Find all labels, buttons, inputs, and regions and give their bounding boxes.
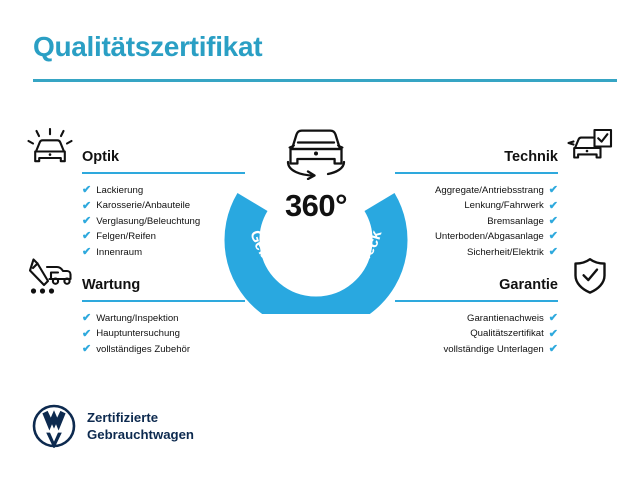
panel-garantie-list: ✔Garantienachweis ✔Qualitätszertifikat ✔… bbox=[395, 311, 610, 357]
list-item: ✔Qualitätszertifikat bbox=[395, 326, 610, 341]
gebrauchtwagen-check-badge: Gebrauchtwagen-Check 360° bbox=[223, 122, 409, 314]
panel-wartung-header: Wartung bbox=[30, 256, 245, 302]
list-item-label: vollständiges Zubehör bbox=[96, 342, 190, 357]
panel-optik-title: Optik bbox=[82, 149, 119, 165]
list-item: ✔vollständige Unterlagen bbox=[395, 342, 610, 357]
list-item: ✔Unterboden/Abgasanlage bbox=[395, 229, 610, 244]
check-icon: ✔ bbox=[549, 231, 558, 242]
panel-optik-header: Optik bbox=[30, 128, 245, 174]
vw-brand-footer: Zertifizierte Gebrauchtwagen bbox=[32, 404, 194, 448]
panel-garantie: Garantie ✔Garantienachweis ✔Qualitätszer… bbox=[395, 256, 610, 357]
check-icon: ✔ bbox=[82, 231, 91, 242]
check-icon: ✔ bbox=[82, 185, 91, 196]
shield-check-icon bbox=[566, 256, 614, 296]
panel-optik: Optik ✔Lackierung ✔Karosserie/Anbauteile… bbox=[30, 128, 245, 260]
panel-technik-header: Technik bbox=[395, 128, 610, 174]
check-icon: ✔ bbox=[549, 185, 558, 196]
list-item-label: Karosserie/Anbauteile bbox=[96, 198, 190, 213]
car-service-tool-icon bbox=[26, 256, 74, 296]
list-item-label: Bremsanlage bbox=[487, 214, 544, 229]
car-rotation-icon bbox=[274, 122, 358, 180]
check-icon: ✔ bbox=[82, 329, 91, 340]
list-item-label: vollständige Unterlagen bbox=[444, 342, 544, 357]
check-icon: ✔ bbox=[82, 313, 91, 324]
panel-technik-list: ✔Aggregate/Antriebsstrang ✔Lenkung/Fahrw… bbox=[395, 183, 610, 260]
panel-technik-title: Technik bbox=[504, 149, 558, 165]
badge-ring: Gebrauchtwagen-Check bbox=[223, 158, 409, 314]
vw-brand-line-2: Gebrauchtwagen bbox=[87, 426, 194, 443]
panel-wartung-title: Wartung bbox=[82, 277, 140, 293]
list-item: ✔Karosserie/Anbauteile bbox=[30, 198, 245, 213]
list-item: ✔Hauptuntersuchung bbox=[30, 326, 245, 341]
list-item-label: Felgen/Reifen bbox=[96, 229, 156, 244]
list-item: ✔Lackierung bbox=[30, 183, 245, 198]
vw-brand-line-1: Zertifizierte bbox=[87, 409, 194, 426]
list-item-label: Aggregate/Antriebsstrang bbox=[435, 183, 544, 198]
panel-optik-divider bbox=[82, 172, 245, 174]
volkswagen-logo bbox=[32, 404, 76, 448]
list-item: ✔Felgen/Reifen bbox=[30, 229, 245, 244]
car-shine-icon bbox=[26, 128, 74, 168]
list-item-label: Unterboden/Abgasanlage bbox=[435, 229, 544, 244]
check-icon: ✔ bbox=[82, 344, 91, 355]
list-item-label: Lackierung bbox=[96, 183, 143, 198]
list-item: ✔Aggregate/Antriebsstrang bbox=[395, 183, 610, 198]
panel-garantie-title: Garantie bbox=[499, 277, 558, 293]
list-item-label: Garantienachweis bbox=[467, 311, 544, 326]
page-title: Qualitätszertifikat bbox=[33, 30, 617, 64]
check-icon: ✔ bbox=[549, 313, 558, 324]
panel-wartung: Wartung ✔Wartung/Inspektion ✔Hauptunters… bbox=[30, 256, 245, 357]
list-item: ✔Verglasung/Beleuchtung bbox=[30, 214, 245, 229]
panel-wartung-list: ✔Wartung/Inspektion ✔Hauptuntersuchung ✔… bbox=[30, 311, 245, 357]
check-icon: ✔ bbox=[549, 329, 558, 340]
panel-wartung-divider bbox=[82, 300, 245, 302]
list-item-label: Qualitätszertifikat bbox=[470, 326, 544, 341]
vw-brand-text: Zertifizierte Gebrauchtwagen bbox=[87, 409, 194, 443]
check-icon: ✔ bbox=[82, 216, 91, 227]
list-item-label: Hauptuntersuchung bbox=[96, 326, 180, 341]
list-item: ✔vollständiges Zubehör bbox=[30, 342, 245, 357]
car-checkbox-icon bbox=[566, 128, 614, 168]
check-icon: ✔ bbox=[549, 344, 558, 355]
list-item: ✔Lenkung/Fahrwerk bbox=[395, 198, 610, 213]
check-icon: ✔ bbox=[549, 216, 558, 227]
list-item-label: Wartung/Inspektion bbox=[96, 311, 178, 326]
check-icon: ✔ bbox=[82, 201, 91, 212]
list-item-label: Verglasung/Beleuchtung bbox=[96, 214, 200, 229]
list-item: ✔Garantienachweis bbox=[395, 311, 610, 326]
panel-optik-list: ✔Lackierung ✔Karosserie/Anbauteile ✔Verg… bbox=[30, 183, 245, 260]
certificate-page: Qualitätszertifikat Optik bbox=[0, 0, 640, 480]
page-header: Qualitätszertifikat bbox=[33, 30, 617, 82]
list-item: ✔Bremsanlage bbox=[395, 214, 610, 229]
check-icon: ✔ bbox=[549, 201, 558, 212]
badge-center-value: 360° bbox=[223, 188, 409, 224]
title-divider bbox=[33, 79, 617, 82]
panel-garantie-header: Garantie bbox=[395, 256, 610, 302]
panel-technik-divider bbox=[395, 172, 558, 174]
panel-garantie-divider bbox=[395, 300, 558, 302]
list-item-label: Lenkung/Fahrwerk bbox=[464, 198, 543, 213]
panel-technik: Technik ✔Aggregate/Antriebsstrang ✔Lenku… bbox=[395, 128, 610, 260]
list-item: ✔Wartung/Inspektion bbox=[30, 311, 245, 326]
